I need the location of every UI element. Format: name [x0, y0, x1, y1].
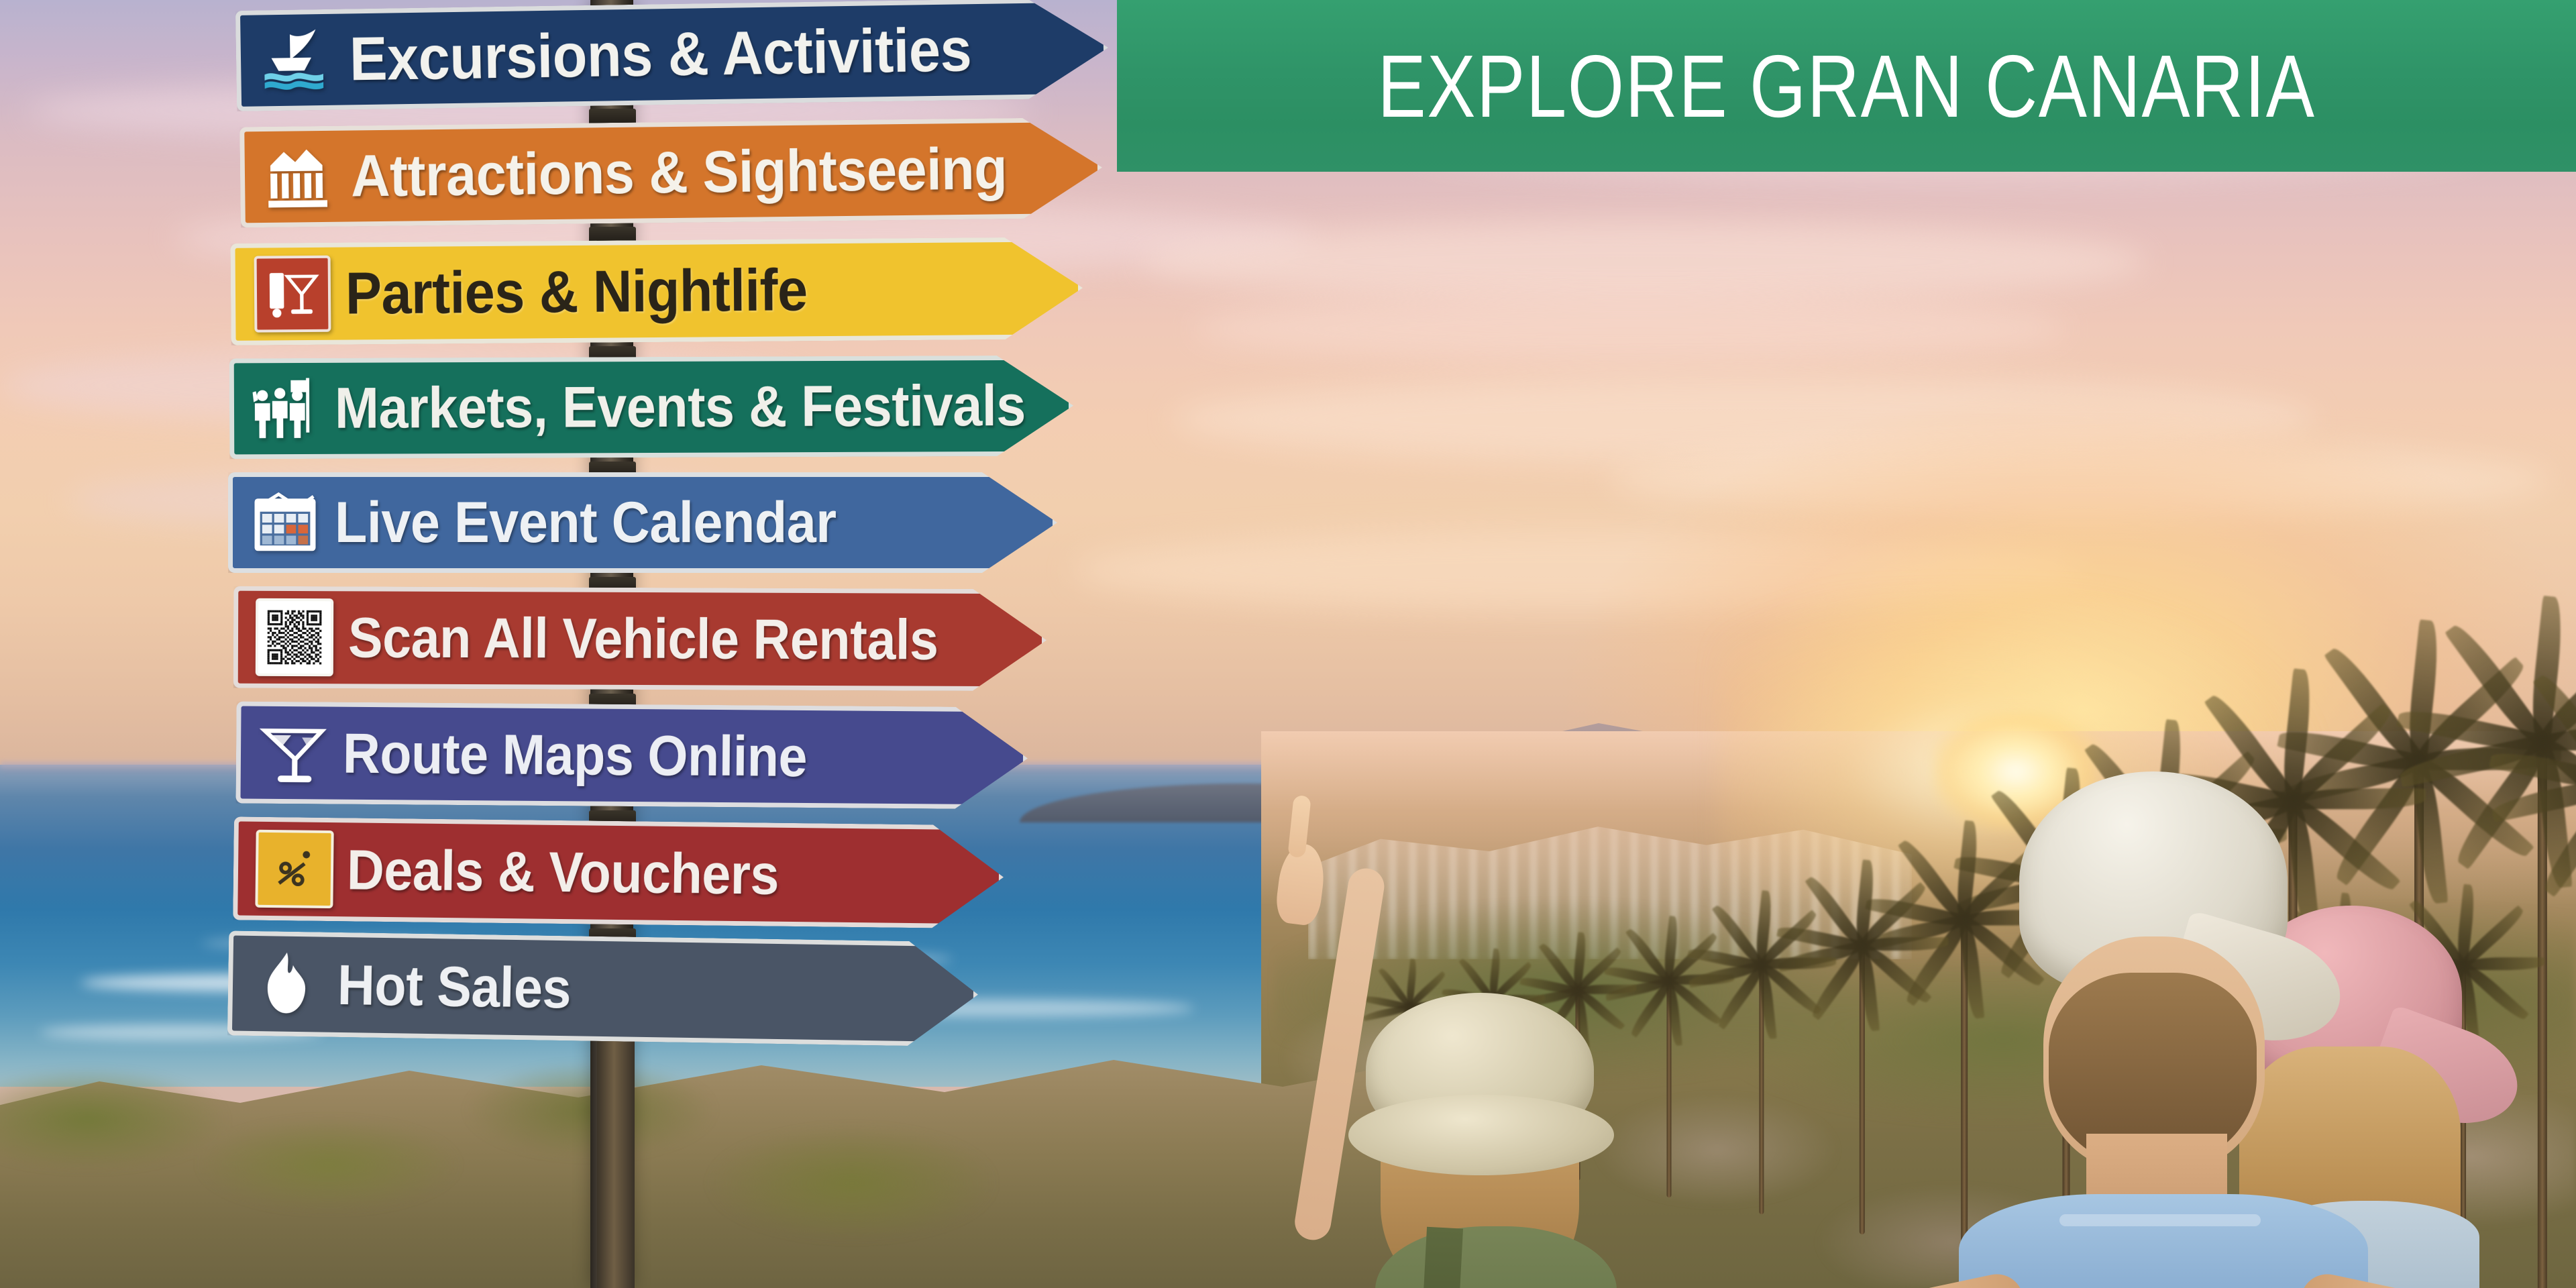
boat-wave-icon	[259, 22, 335, 99]
signpost-arrow-2[interactable]: Attractions & Sightseeing	[239, 117, 1103, 228]
person-man-white-cap	[1885, 771, 2435, 1288]
signpost-arrow-4[interactable]: Markets, Events & Festivals	[229, 356, 1074, 460]
shirt-fold	[2059, 1214, 2261, 1226]
promo-banner-image: Excursions & Activities Attractions & Si…	[0, 0, 2576, 1288]
flame-icon	[252, 950, 321, 1018]
signpost-arrow-3[interactable]: Parties & Nightlife	[230, 237, 1083, 345]
signpost-arrow-label: Attractions & Sightseeing	[351, 139, 1008, 205]
signpost-arrow-5[interactable]: Live Event Calendar	[228, 472, 1057, 573]
signpost-arrow-7[interactable]: Route Maps Online	[235, 701, 1028, 809]
signpost-arrow-label: Excursions & Activities	[349, 19, 971, 90]
foreground-vegetation	[0, 1060, 993, 1288]
hat-brim	[1348, 1095, 1614, 1175]
signpost-arrow-6[interactable]: Scan All Vehicle Rentals	[233, 586, 1047, 692]
martini-glass-icon	[258, 718, 329, 788]
person-woman-bucket-hat	[1221, 792, 1690, 1288]
price-tag-percent-icon	[255, 830, 333, 908]
signpost-arrow-label: Hot Sales	[337, 957, 571, 1016]
qr-code-icon	[256, 598, 333, 676]
signpost-arrow-label: Live Event Calendar	[335, 494, 837, 551]
signpost-arrow-label: Route Maps Online	[343, 725, 808, 785]
monument-building-icon	[263, 140, 336, 213]
signpost-arrow-1[interactable]: Excursions & Activities	[235, 0, 1109, 111]
palm-tree	[1717, 959, 1806, 1214]
cocktail-glass-icon	[254, 256, 331, 333]
signpost-arrow-8[interactable]: Deals & Vouchers	[233, 816, 1004, 928]
signpost-arrow-label: Scan All Vehicle Rentals	[348, 609, 938, 667]
explore-banner: EXPLORE GRAN CANARIA	[1117, 0, 2576, 172]
signpost-arrow-9[interactable]: Hot Sales	[227, 930, 979, 1046]
banner-title: EXPLORE GRAN CANARIA	[1377, 36, 2315, 137]
people-flag-icon	[252, 374, 321, 443]
signpost-arrow-label: Deals & Vouchers	[347, 841, 780, 902]
signpost-arrow-label: Markets, Events & Festivals	[335, 377, 1026, 437]
calendar-icon	[250, 488, 320, 557]
torso-blue-shirt	[1959, 1194, 2368, 1288]
signpost-arrow-label: Parties & Nightlife	[345, 260, 808, 323]
